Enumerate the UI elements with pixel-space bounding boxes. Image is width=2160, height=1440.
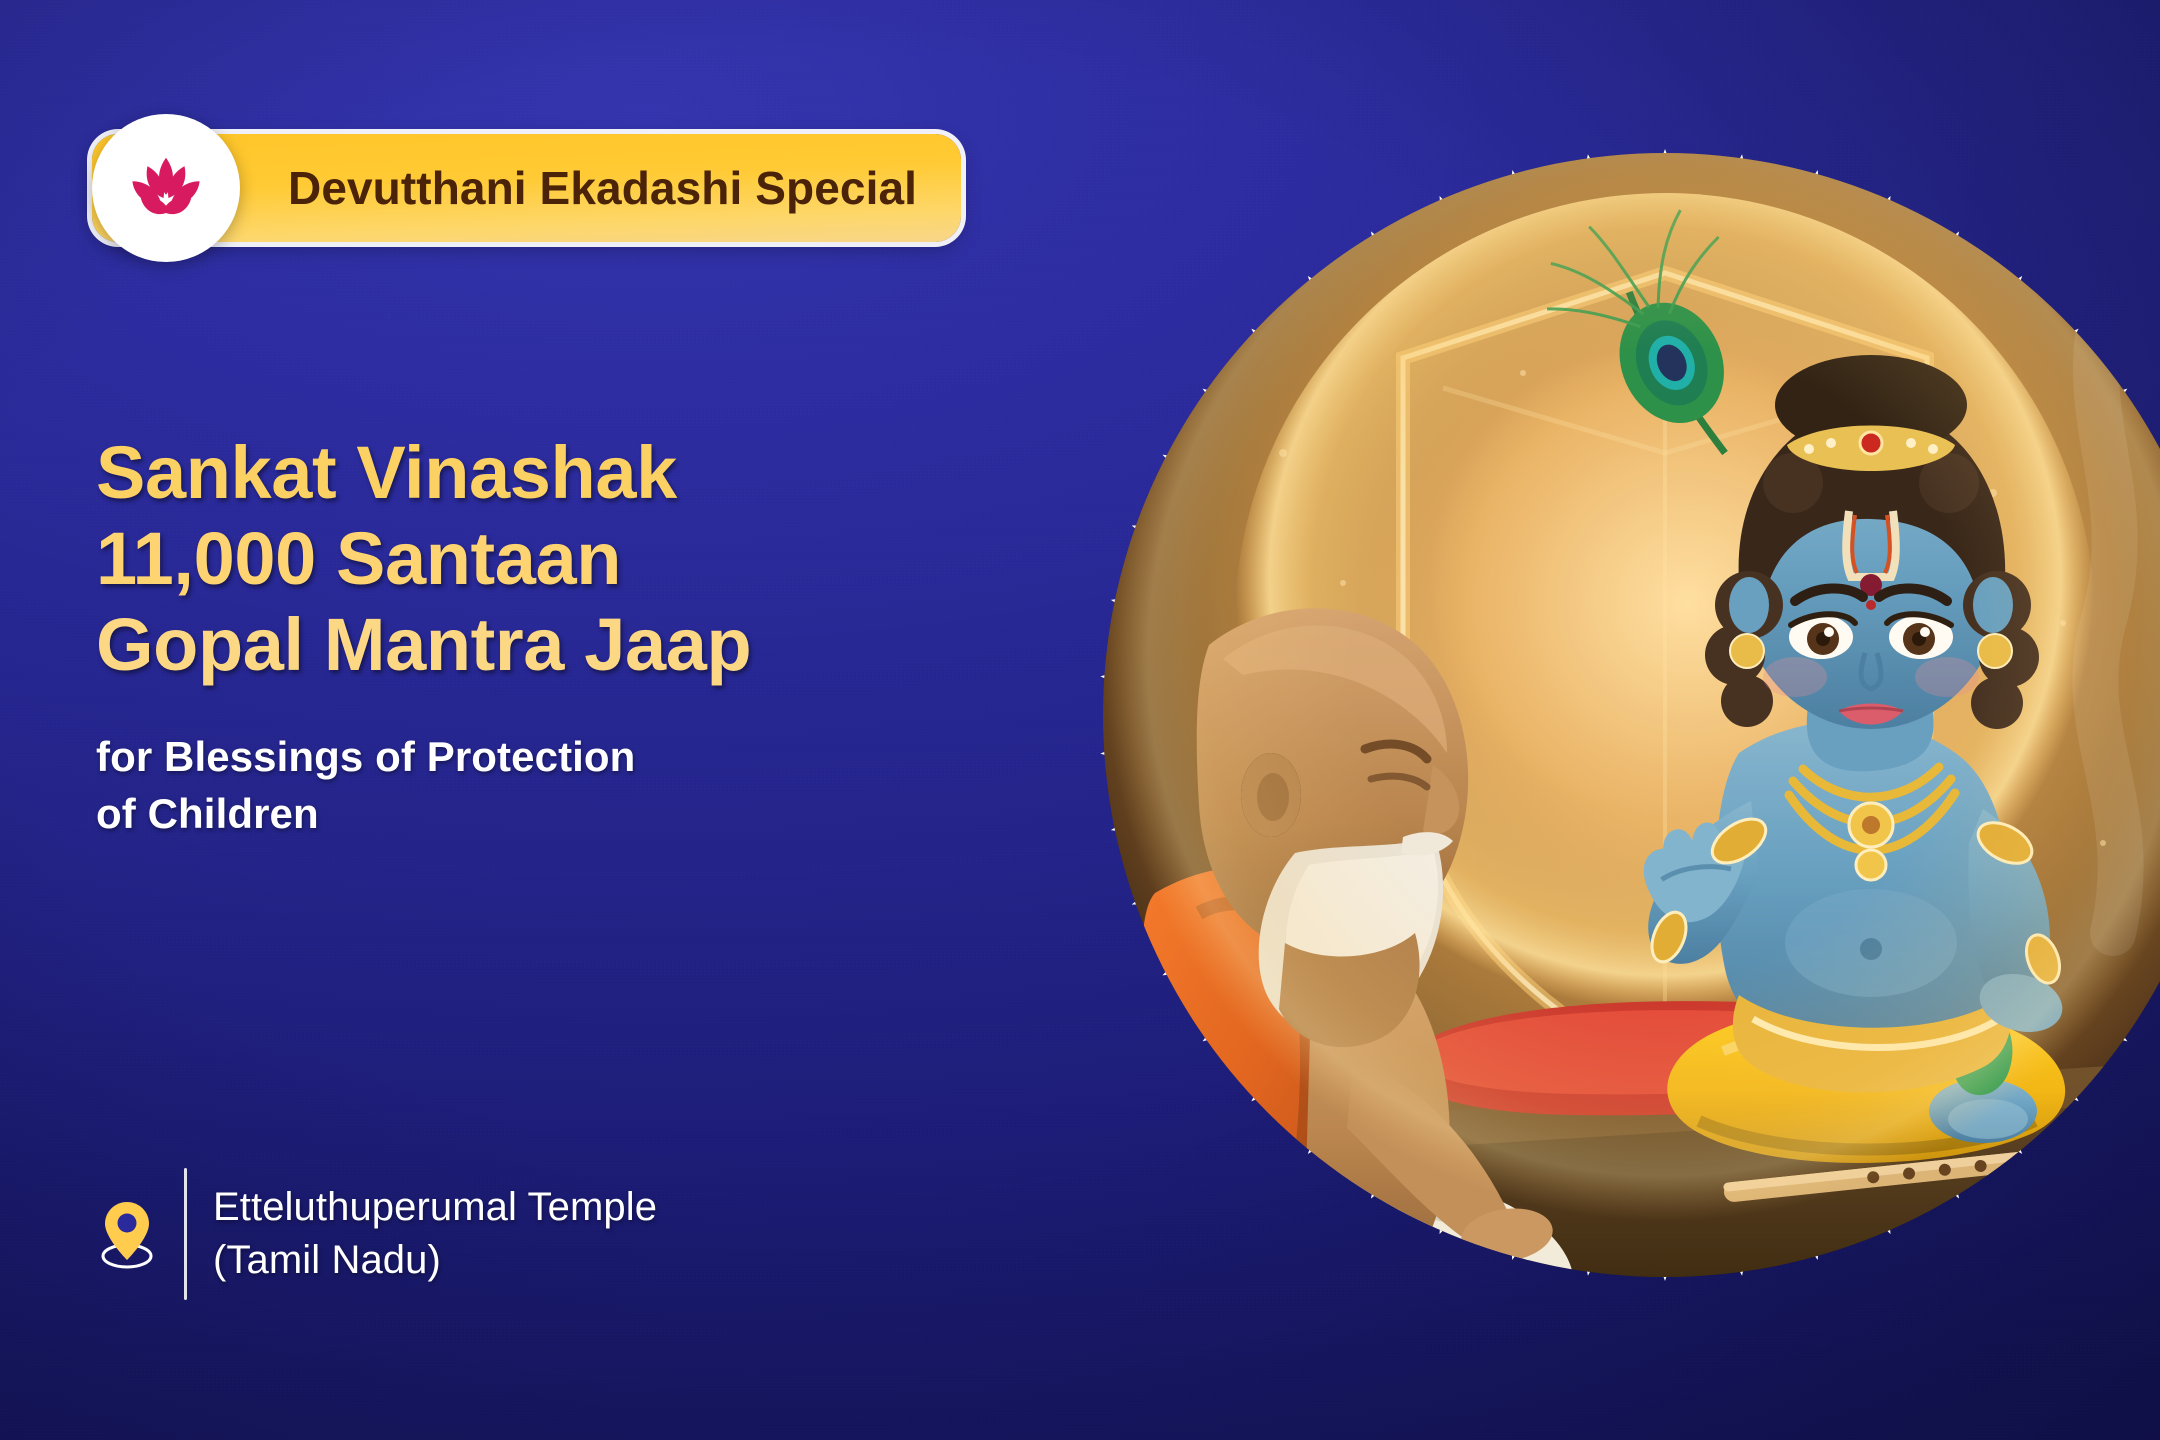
subheadline: for Blessings of Protection of Children xyxy=(96,729,996,842)
location-name: Etteluthuperumal Temple xyxy=(213,1185,657,1229)
headline-block: Sankat Vinashak 11,000 Santaan Gopal Man… xyxy=(96,430,996,842)
headline-line-1: Sankat Vinashak xyxy=(96,431,677,514)
map-pin-icon xyxy=(96,1198,158,1270)
headline-line-3: Gopal Mantra Jaap xyxy=(96,603,751,686)
location-block: Etteluthuperumal Temple (Tamil Nadu) xyxy=(96,1168,657,1300)
artwork-circle xyxy=(1103,153,2160,1277)
location-region: (Tamil Nadu) xyxy=(213,1238,441,1282)
subheadline-line-1: for Blessings of Protection xyxy=(96,733,635,780)
subheadline-line-2: of Children xyxy=(96,790,319,837)
location-divider xyxy=(184,1168,187,1300)
lotus-icon xyxy=(92,114,240,262)
page-title: Sankat Vinashak 11,000 Santaan Gopal Man… xyxy=(96,430,996,687)
artwork-medallion xyxy=(1035,85,2160,1345)
poster-canvas: Devutthani Ekadashi Special Sankat Vinas… xyxy=(0,0,2160,1440)
krishna-devotee-illustration xyxy=(1103,153,2160,1277)
special-occasion-badge: Devutthani Ekadashi Special xyxy=(92,134,961,242)
headline-line-2: 11,000 Santaan xyxy=(96,517,621,600)
badge-pill: Devutthani Ekadashi Special xyxy=(92,134,961,242)
location-text: Etteluthuperumal Temple (Tamil Nadu) xyxy=(213,1181,657,1287)
badge-label: Devutthani Ekadashi Special xyxy=(288,161,917,215)
